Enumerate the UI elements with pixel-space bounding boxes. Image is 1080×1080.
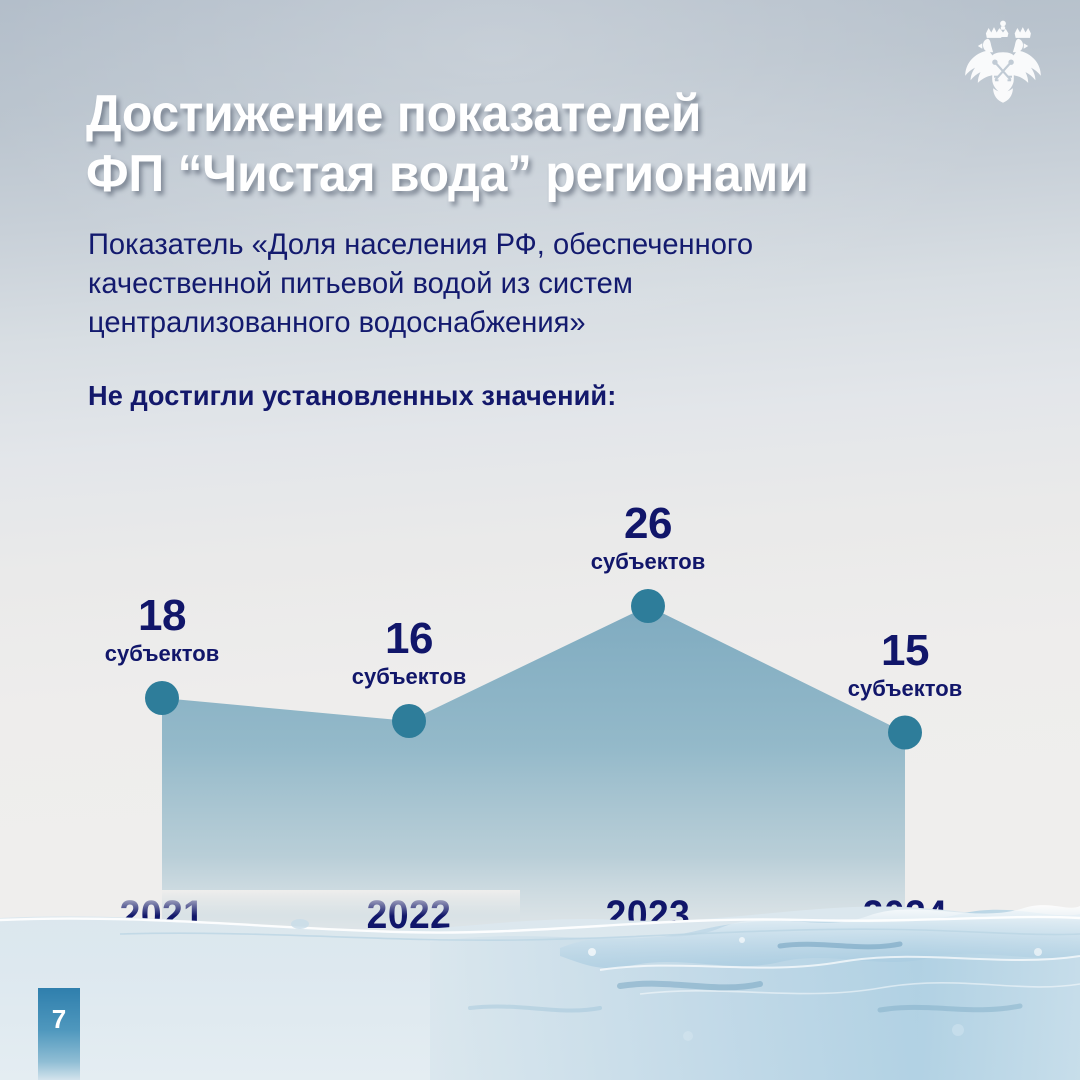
data-value-2022: 16 [299, 617, 519, 661]
subtitle-line-3: централизованного водоснабжения» [88, 303, 961, 342]
chart-marker-2021 [145, 681, 179, 715]
subtitle-line-2: качественной питьевой водой из систем [88, 264, 961, 303]
data-label-2024: 15 субъектов [795, 629, 1015, 705]
chart-marker-2023 [631, 589, 665, 623]
data-value-2024: 15 [795, 629, 1015, 673]
title-line-1: Достижение показателей [86, 84, 931, 144]
chart-marker-2024 [888, 716, 922, 750]
page-number-badge: 7 [38, 988, 80, 1080]
data-unit-2021: субъектов [52, 638, 272, 670]
chart-marker-2022 [392, 704, 426, 738]
data-label-2022: 16 субъектов [299, 617, 519, 693]
water-photo [0, 890, 1080, 1080]
statement-heading: Не достигли установленных значений: [88, 380, 616, 412]
data-value-2021: 18 [52, 594, 272, 638]
title-line-2: ФП “Чистая вода” регионами [86, 144, 931, 204]
data-label-2023: 26 субъектов [538, 502, 758, 578]
russian-double-headed-eagle-emblem [958, 16, 1048, 112]
data-unit-2023: субъектов [538, 546, 758, 578]
subtitle-line-1: Показатель «Доля населения РФ, обеспечен… [88, 225, 961, 264]
data-unit-2024: субъектов [795, 673, 1015, 705]
data-label-2021: 18 субъектов [52, 594, 272, 670]
data-unit-2022: субъектов [299, 661, 519, 693]
slide-root: Достижение показателей ФП “Чистая вода” … [0, 0, 1080, 1080]
data-value-2023: 26 [538, 502, 758, 546]
subtitle: Показатель «Доля населения РФ, обеспечен… [88, 225, 988, 342]
page-title: Достижение показателей ФП “Чистая вода” … [86, 84, 966, 205]
page-number-text: 7 [38, 1004, 80, 1035]
